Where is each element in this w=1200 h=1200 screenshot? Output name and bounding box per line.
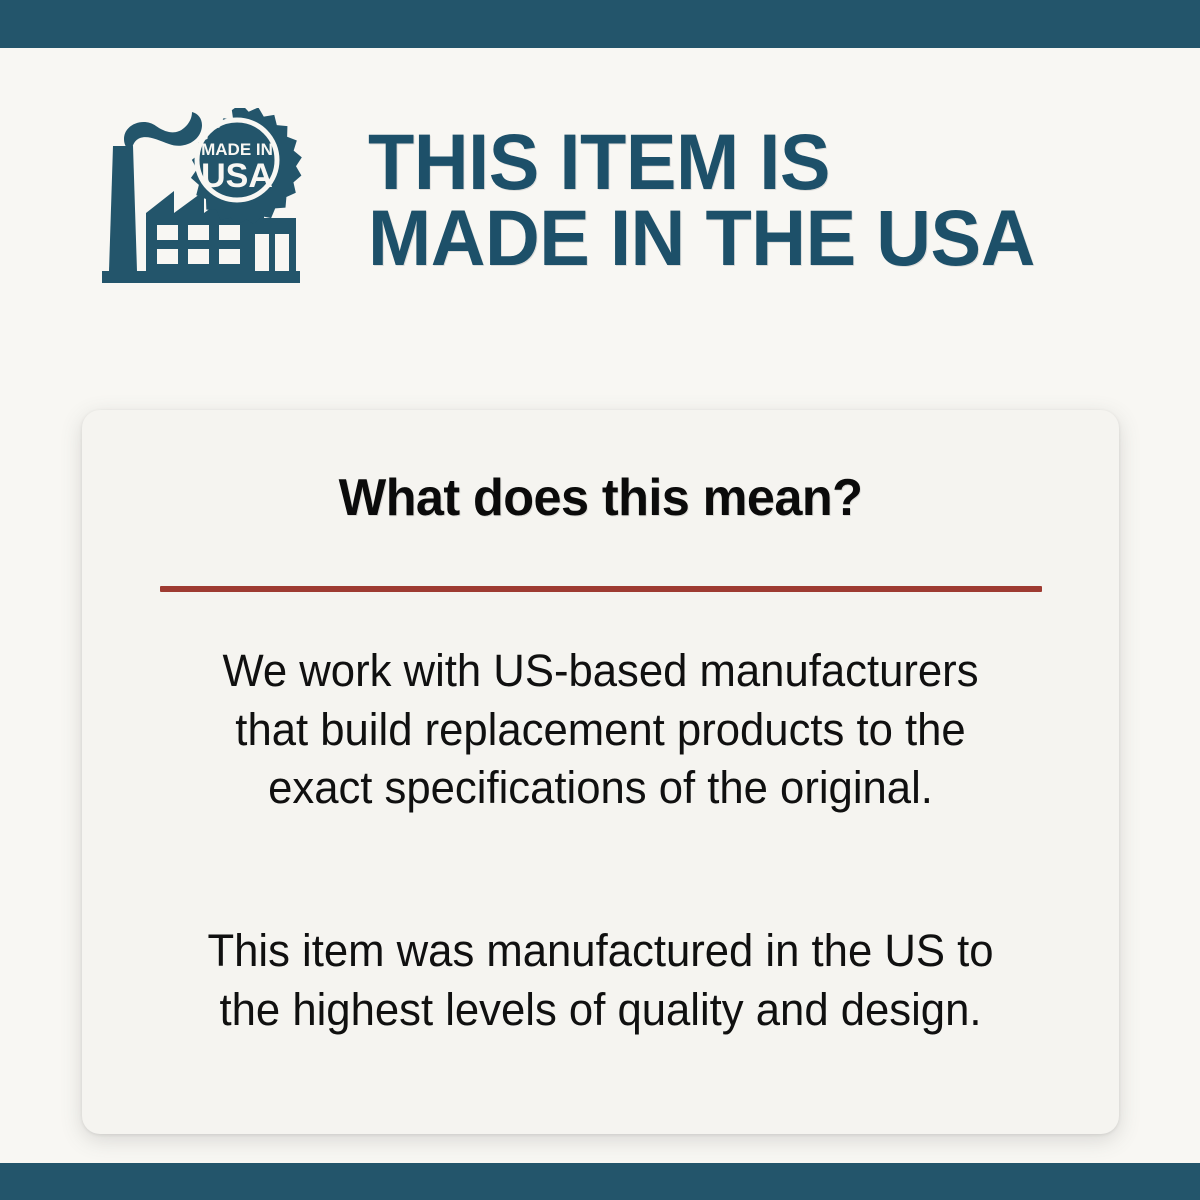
factory-icon: MADE IN USA bbox=[100, 108, 340, 293]
badge-line2: USA bbox=[201, 157, 273, 195]
bottom-accent-band bbox=[0, 1163, 1200, 1200]
info-card: What does this mean? We work with US-bas… bbox=[82, 410, 1119, 1134]
made-in-usa-badge-icon: MADE IN USA bbox=[191, 108, 302, 225]
top-accent-band bbox=[0, 0, 1200, 48]
factory-logo: MADE IN USA bbox=[100, 108, 340, 293]
card-divider bbox=[160, 586, 1042, 592]
header: MADE IN USA THIS ITEM IS MADE IN THE USA bbox=[0, 100, 1200, 300]
card-heading: What does this mean? bbox=[98, 468, 1104, 528]
card-paragraph-2: This item was manufactured in the US to … bbox=[148, 922, 1053, 1039]
card-paragraph-1: We work with US-based manufacturers that… bbox=[148, 642, 1053, 818]
page-title: THIS ITEM IS MADE IN THE USA bbox=[368, 124, 1035, 276]
page-surface: MADE IN USA THIS ITEM IS MADE IN THE USA… bbox=[0, 48, 1200, 1163]
